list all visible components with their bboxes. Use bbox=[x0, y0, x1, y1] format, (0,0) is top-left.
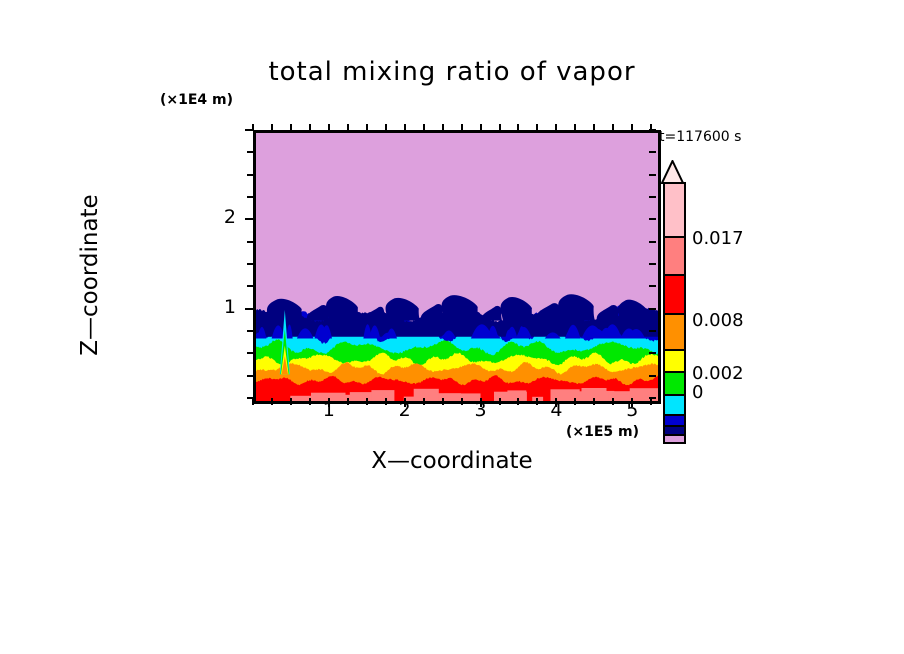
y-axis-tick-right bbox=[649, 352, 656, 354]
x-axis-tick-top bbox=[442, 124, 444, 131]
x-axis-tick-top bbox=[555, 124, 557, 131]
colorbar-arrow-cap bbox=[661, 160, 686, 184]
x-axis-tick-top bbox=[517, 124, 519, 131]
colorbar-segment bbox=[665, 414, 684, 425]
x-axis-tick-top bbox=[461, 124, 463, 131]
colorbar-body bbox=[663, 182, 686, 444]
x-axis-tick-top bbox=[290, 124, 292, 131]
x-axis-tick-top bbox=[404, 124, 406, 131]
x-axis-tick-top bbox=[574, 124, 576, 131]
colorbar-segment bbox=[665, 236, 684, 274]
x-axis-tick-top bbox=[499, 124, 501, 131]
page-title: total mixing ratio of vapor bbox=[0, 57, 904, 87]
x-axis-tick-top bbox=[347, 124, 349, 131]
x-axis-tick-label: 2 bbox=[385, 399, 425, 421]
y-axis-tick-right bbox=[649, 241, 656, 243]
y-axis-tick bbox=[247, 352, 254, 354]
y-axis-tick-right bbox=[649, 285, 656, 287]
colorbar-tick-label: 0.008 bbox=[692, 310, 744, 331]
time-annotation: t=117600 s bbox=[659, 129, 741, 145]
y-axis-tick bbox=[247, 263, 254, 265]
y-axis-tick bbox=[247, 196, 254, 198]
x-axis-tick-top bbox=[480, 124, 482, 131]
colorbar-segment bbox=[665, 371, 684, 394]
y-axis-tick-right bbox=[649, 397, 656, 399]
y-axis-tick-right bbox=[649, 174, 656, 176]
y-axis-tick-right bbox=[649, 151, 656, 153]
x-axis-tick bbox=[517, 398, 519, 405]
x-axis-tick-top bbox=[328, 124, 330, 131]
y-axis-tick bbox=[247, 285, 254, 287]
x-axis-tick bbox=[366, 398, 368, 405]
x-axis-tick bbox=[290, 398, 292, 405]
x-axis-tick-label: 5 bbox=[612, 399, 652, 421]
x-axis-tick-label: 1 bbox=[309, 399, 349, 421]
x-axis-tick bbox=[252, 398, 254, 405]
contour-field bbox=[256, 133, 658, 401]
x-axis-tick-top bbox=[423, 124, 425, 131]
y-axis-tick bbox=[247, 241, 254, 243]
y-axis-tick bbox=[245, 129, 254, 131]
y-axis-tick bbox=[245, 308, 254, 310]
colorbar-tick-label: 0.017 bbox=[692, 228, 744, 249]
x-axis-tick-label: 3 bbox=[461, 399, 501, 421]
colorbar-tick-label: 0.002 bbox=[692, 363, 744, 384]
x-axis-tick-top bbox=[593, 124, 595, 131]
y-axis-tick-label: 2 bbox=[196, 206, 236, 228]
y-axis-tick bbox=[247, 151, 254, 153]
colorbar-segment bbox=[665, 274, 684, 313]
y-axis-tick bbox=[247, 174, 254, 176]
y-axis-tick bbox=[247, 330, 254, 332]
y-axis-tick bbox=[245, 218, 254, 220]
y-axis-tick bbox=[247, 397, 254, 399]
x-axis-tick bbox=[593, 398, 595, 405]
x-axis-tick-top bbox=[385, 124, 387, 131]
colorbar-segment bbox=[665, 184, 684, 236]
x-axis-tick-label: 4 bbox=[536, 399, 576, 421]
y-axis-tick-label: 1 bbox=[196, 296, 236, 318]
y-axis-tick-right bbox=[649, 218, 656, 220]
figure-canvas: total mixing ratio of vapor (×1E4 m) (×1… bbox=[0, 0, 904, 654]
x-axis-tick-top bbox=[366, 124, 368, 131]
x-axis-tick-top bbox=[612, 124, 614, 131]
colorbar-tick-label: 0 bbox=[692, 382, 703, 403]
x-axis-units-label: (×1E5 m) bbox=[566, 424, 639, 440]
x-axis-title: X—coordinate bbox=[0, 448, 904, 474]
colorbar-segment bbox=[665, 434, 684, 442]
y-axis-tick-right bbox=[649, 196, 656, 198]
y-axis-tick-right bbox=[649, 308, 656, 310]
x-axis-tick-top bbox=[536, 124, 538, 131]
colorbar-segment bbox=[665, 425, 684, 434]
y-axis-tick-right bbox=[649, 375, 656, 377]
colorbar-segment bbox=[665, 394, 684, 414]
x-axis-tick-top bbox=[309, 124, 311, 131]
y-axis-tick bbox=[247, 375, 254, 377]
x-axis-tick bbox=[442, 398, 444, 405]
colorbar-segment bbox=[665, 349, 684, 371]
y-axis-title: Z—coordinate bbox=[77, 165, 103, 385]
y-axis-tick-right bbox=[649, 330, 656, 332]
y-axis-tick-right bbox=[649, 263, 656, 265]
y-axis-tick-right bbox=[649, 129, 656, 131]
y-axis-units-label: (×1E4 m) bbox=[160, 92, 233, 108]
colorbar-segment bbox=[665, 313, 684, 349]
x-axis-tick bbox=[271, 398, 273, 405]
x-axis-tick-top bbox=[631, 124, 633, 131]
contour-plot-area bbox=[253, 130, 661, 404]
x-axis-tick-top bbox=[271, 124, 273, 131]
